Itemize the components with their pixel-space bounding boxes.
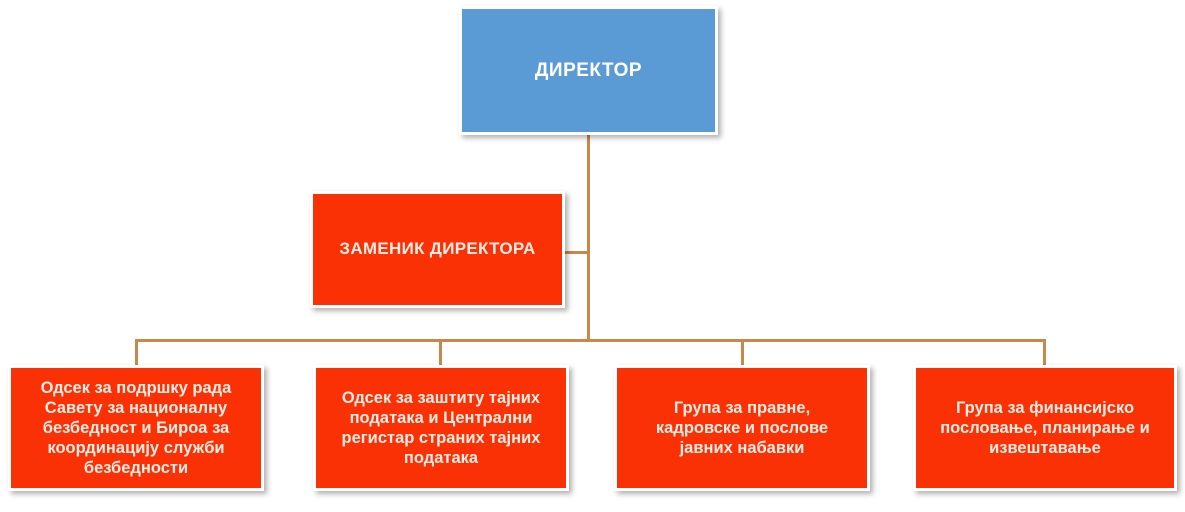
node-unit-4-label: Група за финансијско пословање, планирањ… <box>924 398 1166 458</box>
node-deputy-director[interactable]: ЗАМЕНИК ДИРЕКТОРА <box>310 191 565 308</box>
connector-drop-unit-3 <box>741 339 744 366</box>
node-unit-2[interactable]: Одсек за заштиту тајних података и Центр… <box>313 365 569 491</box>
connector-drop-unit-2 <box>439 339 442 366</box>
node-unit-1[interactable]: Одсек за подршку рада Савету за национал… <box>8 365 264 491</box>
organization-chart: ДИРЕКТОР ЗАМЕНИК ДИРЕКТОРА Одсек за подр… <box>0 0 1185 512</box>
node-director-label: ДИРЕКТОР <box>470 59 707 82</box>
connector-distribution-bar <box>135 339 1046 342</box>
node-unit-4[interactable]: Група за финансијско пословање, планирањ… <box>913 365 1177 491</box>
node-unit-1-label: Одсек за подршку рада Савету за национал… <box>19 378 253 479</box>
connector-drop-unit-4 <box>1043 339 1046 366</box>
node-unit-3[interactable]: Група за правне, кадровске и послове јав… <box>614 365 870 491</box>
connector-director-trunk <box>587 135 590 342</box>
node-unit-2-label: Одсек за заштиту тајних података и Центр… <box>324 388 558 469</box>
connector-deputy-stub <box>565 251 590 254</box>
node-deputy-director-label: ЗАМЕНИК ДИРЕКТОРА <box>321 239 554 260</box>
node-unit-3-label: Група за правне, кадровске и послове јав… <box>625 398 859 458</box>
node-director[interactable]: ДИРЕКТОР <box>459 6 718 135</box>
connector-drop-unit-1 <box>135 339 138 366</box>
